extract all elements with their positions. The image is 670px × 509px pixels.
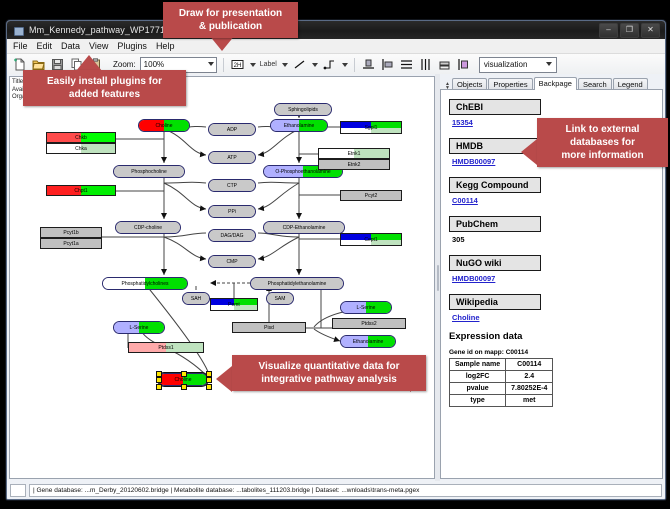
- datanode-tool-icon[interactable]: 2H: [230, 57, 245, 72]
- node-label: Phosphatidylcholines: [122, 281, 169, 287]
- gene-cept1[interactable]: Cept1: [340, 233, 402, 246]
- node-label: CDP-choline: [134, 225, 162, 231]
- metabolite-phosphocholine[interactable]: Phosphocholine: [113, 165, 185, 178]
- callout-draw: Draw for presentation & publication: [163, 2, 298, 38]
- node-label: Pcyt2: [365, 193, 378, 199]
- interaction-tool-icon[interactable]: [322, 57, 337, 72]
- node-label: CTP: [227, 183, 237, 189]
- status-text: | Gene database: ...m_Derby_20120602.bri…: [29, 484, 662, 497]
- expression-row-label: log2FC: [450, 371, 506, 383]
- callout-plugins-line1: Easily install plugins for: [31, 75, 178, 88]
- node-label: Sgpl1: [365, 125, 378, 131]
- table-row: Sample nameC00114: [450, 359, 553, 371]
- node-label: ATP: [227, 155, 236, 161]
- chevron-down-icon[interactable]: [282, 63, 288, 67]
- gene-pemt[interactable]: Pemt: [210, 298, 258, 311]
- gene-chka[interactable]: Chka: [46, 143, 116, 154]
- node-label: Chpt1: [74, 188, 87, 194]
- svg-text:2H: 2H: [233, 63, 241, 69]
- callout-visualize-line1: Visualize quantitative data for: [240, 360, 418, 373]
- table-row: log2FC2.4: [450, 371, 553, 383]
- gene-id-line: Gene id on mapp: C00114: [449, 349, 654, 356]
- expression-row-value: 2.4: [506, 371, 553, 383]
- node-label: CDP-Ethanolamine: [283, 225, 326, 231]
- node-label: SAH: [191, 296, 201, 302]
- expression-row-label: Sample name: [450, 359, 506, 371]
- node-label: ADP: [227, 127, 237, 133]
- node-label: Etnk1: [348, 151, 361, 157]
- chevron-down-icon[interactable]: [342, 63, 348, 67]
- node-label: Pemt: [228, 302, 240, 308]
- node-label: Sphingolipids: [288, 107, 318, 113]
- gene-pcyt2[interactable]: Pcyt2: [340, 190, 402, 201]
- expression-row-value: 7.80252E-4: [506, 383, 553, 395]
- metabolite-cmp[interactable]: CMP: [208, 255, 256, 268]
- toolbar-separator: [354, 58, 355, 72]
- callout-visualize: Visualize quantitative data for integrat…: [232, 355, 426, 391]
- nugo-wiki-header: NuGO wiki: [449, 255, 541, 271]
- node-label: L-Serine: [357, 305, 376, 311]
- node-label: Ptdss2: [361, 321, 376, 327]
- node-label: Phosphatidylethanolamine: [268, 281, 327, 287]
- label-tool-label[interactable]: Label: [260, 61, 277, 68]
- node-label: Choline: [175, 377, 192, 383]
- node-label: Ethanolamine: [284, 123, 315, 129]
- wikipedia-header: Wikipedia: [449, 294, 541, 310]
- menu-item-data[interactable]: Data: [61, 41, 80, 51]
- expression-row-label: type: [450, 395, 506, 407]
- distribute-vertical-icon[interactable]: [399, 57, 414, 72]
- callout-draw-line2: & publication: [171, 20, 290, 33]
- minimize-button[interactable]: –: [599, 23, 618, 38]
- visualization-value: visualization: [484, 60, 528, 69]
- node-label: Ptdss1: [158, 345, 173, 351]
- selection-handle[interactable]: [156, 377, 162, 383]
- toolbar-separator: [223, 58, 224, 72]
- window-controls: – ❐ ✕: [599, 23, 661, 38]
- metabolite-ethanolamine-top[interactable]: Ethanolamine: [270, 119, 328, 132]
- node-label: Chka: [75, 146, 87, 152]
- node-label: Choline: [156, 123, 173, 129]
- status-field-left: [10, 484, 26, 497]
- line-tool-icon[interactable]: [292, 57, 307, 72]
- gene-etnk1[interactable]: Etnk1: [318, 148, 390, 159]
- expression-row-label: pvalue: [450, 383, 506, 395]
- distribute-horizontal-icon[interactable]: [418, 57, 433, 72]
- gene-ptdss2[interactable]: Ptdss2: [332, 318, 406, 329]
- node-label: O-Phosphoethanolamine: [275, 169, 330, 175]
- pathway-canvas[interactable]: Title: Availa Organ: [9, 76, 435, 479]
- zoom-value: 100%: [144, 60, 164, 69]
- callout-link-line3: more information: [545, 149, 660, 162]
- expression-data-heading: Expression data: [449, 331, 654, 342]
- table-row: pvalue7.80252E-4: [450, 383, 553, 395]
- pubchem-header: PubChem: [449, 216, 541, 232]
- node-label: PPi: [228, 209, 236, 215]
- app-icon: [13, 25, 24, 36]
- gene-pcyt1a[interactable]: Pcyt1a: [40, 238, 102, 249]
- menu-item-plugins[interactable]: Plugins: [117, 41, 147, 51]
- selection-handle[interactable]: [181, 384, 187, 390]
- gene-ptdss1[interactable]: Ptdss1: [128, 342, 204, 353]
- align-bottom-icon[interactable]: [361, 57, 376, 72]
- status-bar: | Gene database: ...m_Derby_20120602.bri…: [7, 481, 665, 499]
- callout-link-databases: Link to external databases for more info…: [537, 118, 668, 167]
- expression-row-value: met: [506, 395, 553, 407]
- wikipedia-link[interactable]: Choline: [452, 313, 654, 322]
- chebi-header: ChEBI: [449, 99, 541, 115]
- menu-item-file[interactable]: File: [13, 41, 28, 51]
- expression-table: Sample nameC00114log2FC2.4pvalue7.80252E…: [449, 358, 553, 407]
- metabolite-choline-top[interactable]: Choline: [138, 119, 190, 132]
- pubchem-value: 305: [452, 235, 654, 244]
- callout-plugins-line2: added features: [31, 88, 178, 101]
- maximize-button[interactable]: ❐: [620, 23, 639, 38]
- kegg-compound-header: Kegg Compound: [449, 177, 541, 193]
- chevron-down-icon: [208, 62, 214, 66]
- table-row: typemet: [450, 395, 553, 407]
- metabolite-cdp-ethanolamine[interactable]: CDP-Ethanolamine: [263, 221, 345, 234]
- node-label: Pcyt1a: [63, 241, 78, 247]
- callout-visualize-arrow-left: [216, 366, 232, 392]
- metabolite-dag-dag[interactable]: DAG/DAG: [208, 229, 256, 242]
- node-label: DAG/DAG: [220, 233, 243, 239]
- metabolite-sah[interactable]: SAH: [182, 292, 210, 305]
- node-label: Phosphocholine: [131, 169, 167, 175]
- callout-visualize-line2: integrative pathway analysis: [240, 373, 418, 386]
- node-label: Etnk2: [348, 162, 361, 168]
- callout-draw-line1: Draw for presentation: [171, 7, 290, 20]
- metabolite-phosphatidylcholines[interactable]: Phosphatidylcholines: [102, 277, 188, 290]
- metabolite-sam[interactable]: SAM: [266, 292, 294, 305]
- gene-pisd[interactable]: Pisd: [232, 322, 306, 333]
- menu-item-edit[interactable]: Edit: [37, 41, 53, 51]
- callout-plugins-arrow: [76, 55, 102, 71]
- metabolite-ctp[interactable]: CTP: [208, 179, 256, 192]
- metabolite-ppi[interactable]: PPi: [208, 205, 256, 218]
- selection-handle[interactable]: [206, 377, 212, 383]
- node-label: Pisd: [264, 325, 274, 331]
- callout-link-line1: Link to external: [545, 123, 660, 136]
- selection-handle[interactable]: [156, 384, 162, 390]
- menu-item-help[interactable]: Help: [156, 41, 175, 51]
- tab-backpage[interactable]: Backpage: [534, 77, 577, 90]
- node-label: Cept1: [364, 237, 377, 243]
- node-label: Ethanolamine: [353, 339, 384, 345]
- kegg-compound-link[interactable]: C00114: [452, 196, 654, 205]
- callout-link-arrow: [521, 139, 537, 165]
- metabolite-cdp-choline[interactable]: CDP-choline: [115, 221, 181, 234]
- menu-item-view[interactable]: View: [89, 41, 108, 51]
- zoom-label: Zoom:: [113, 60, 136, 69]
- callout-plugins: Easily install plugins for added feature…: [23, 70, 186, 106]
- node-color-fill: [269, 323, 305, 332]
- visualization-combobox[interactable]: visualization: [479, 57, 557, 73]
- close-button[interactable]: ✕: [641, 23, 660, 38]
- metabolite-l-serine-left[interactable]: L-Serine: [113, 321, 165, 334]
- order-icon[interactable]: [456, 57, 471, 72]
- metabolite-adp[interactable]: ADP: [208, 123, 256, 136]
- chevron-down-icon: [546, 62, 552, 66]
- node-label: L-Serine: [130, 325, 149, 331]
- menu-bar: File Edit Data View Plugins Help: [7, 39, 665, 54]
- gene-pcyt1b[interactable]: Pcyt1b: [40, 227, 102, 238]
- gene-chkb[interactable]: Chkb: [46, 132, 116, 143]
- node-label: CMP: [226, 259, 237, 265]
- chevron-down-icon[interactable]: [250, 63, 256, 67]
- gene-chpt1[interactable]: Chpt1: [46, 185, 116, 196]
- metabolite-atp[interactable]: ATP: [208, 151, 256, 164]
- stack-icon[interactable]: [437, 57, 452, 72]
- nugo-wiki-link[interactable]: HMDB00097: [452, 274, 654, 283]
- expression-row-value: C00114: [506, 359, 553, 371]
- selection-handle[interactable]: [206, 384, 212, 390]
- metabolite-phosphatidylethanolamine[interactable]: Phosphatidylethanolamine: [250, 277, 344, 290]
- metabolite-l-serine-right[interactable]: L-Serine: [340, 301, 392, 314]
- side-panel-tabs: ▲▼ Objects Properties Backpage Search Le…: [440, 76, 663, 90]
- node-label: SAM: [275, 296, 286, 302]
- callout-link-line2: databases for: [545, 136, 660, 149]
- metabolite-ethanolamine-bottom[interactable]: Ethanolamine: [340, 335, 396, 348]
- gene-sgpl1[interactable]: Sgpl1: [340, 121, 402, 134]
- metabolite-sphingolipids[interactable]: Sphingolipids: [274, 103, 332, 116]
- chevron-down-icon[interactable]: [312, 63, 318, 67]
- align-left-icon[interactable]: [380, 57, 395, 72]
- node-label: Pcyt1b: [63, 230, 78, 236]
- screenshot-root: Mm_Kennedy_pathway_WP1771_45176.gpml – ❐…: [0, 0, 670, 509]
- title-bar: Mm_Kennedy_pathway_WP1771_45176.gpml – ❐…: [7, 21, 665, 39]
- node-label: Chkb: [75, 135, 87, 141]
